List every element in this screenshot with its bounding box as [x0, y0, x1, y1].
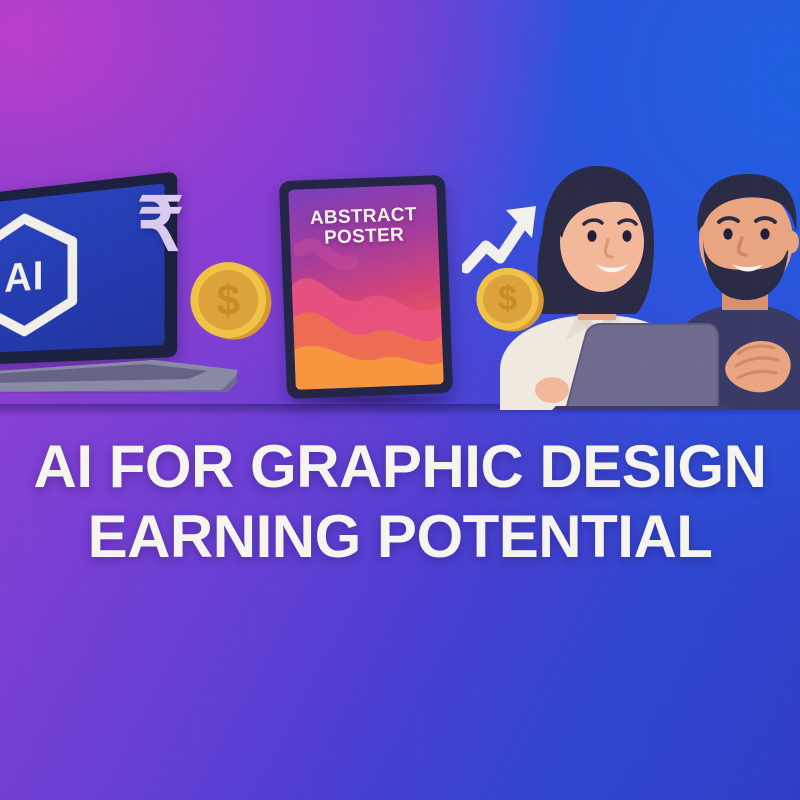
- laptop-base: [0, 346, 242, 392]
- ai-logo-text: AI: [4, 252, 44, 302]
- svg-text:$: $: [216, 277, 240, 324]
- poster-title: ABSTRACT POSTER: [289, 204, 438, 249]
- poster-artwork: ABSTRACT POSTER: [288, 184, 444, 390]
- dollar-coin-icon: $: [186, 256, 274, 344]
- tablet-frame: ABSTRACT POSTER: [279, 175, 453, 399]
- headline-line-1: AI FOR GRAPHIC DESIGN: [0, 432, 800, 502]
- headline-line-2: EARNING POTENTIAL: [0, 502, 800, 572]
- rupee-symbol-icon: ₹: [137, 188, 184, 262]
- svg-text:$: $: [498, 280, 517, 318]
- tablet-poster: ABSTRACT POSTER: [283, 178, 463, 410]
- page-title: AI FOR GRAPHIC DESIGN EARNING POTENTIAL: [0, 432, 800, 571]
- dollar-coin-icon-2: $: [472, 262, 546, 336]
- promo-banner: AI ₹ $: [0, 0, 800, 800]
